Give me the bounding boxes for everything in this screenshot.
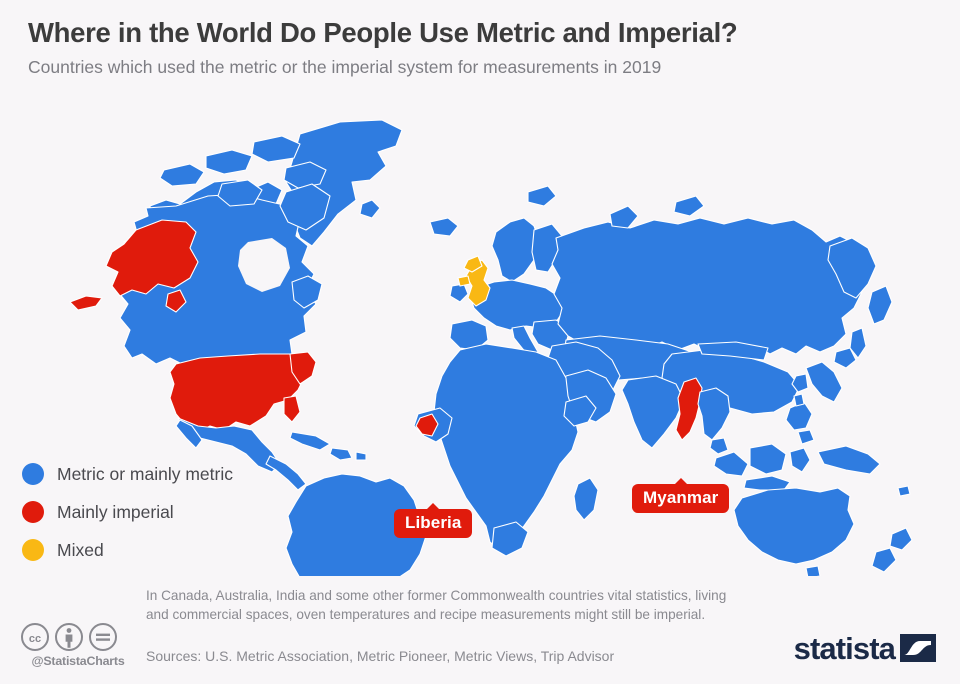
legend-item-metric: Metric or mainly metric	[22, 455, 233, 493]
cc-attribution-icon	[54, 622, 84, 652]
cc-no-derivatives-icon	[88, 622, 118, 652]
legend-item-imperial: Mainly imperial	[22, 493, 233, 531]
statista-wordmark: statista	[794, 633, 895, 664]
legend-dot-imperial-icon	[22, 501, 44, 523]
legend-label-metric: Metric or mainly metric	[57, 464, 233, 485]
region-russia	[552, 218, 862, 354]
statista-handle: @StatistaCharts	[20, 654, 136, 668]
footnote-text: In Canada, Australia, India and some oth…	[146, 586, 746, 625]
legend-item-mixed: Mixed	[22, 531, 233, 569]
statista-logo: statista	[794, 632, 936, 664]
svg-text:cc: cc	[29, 633, 41, 645]
region-taiwan	[794, 394, 804, 406]
region-pacific-islands	[898, 486, 910, 496]
region-tasmania	[806, 566, 820, 576]
sources-text: Sources: U.S. Metric Association, Metric…	[146, 648, 614, 664]
legend-dot-mixed-icon	[22, 539, 44, 561]
region-caribbean-pr	[356, 452, 366, 460]
callout-myanmar: Myanmar	[632, 484, 729, 513]
callout-liberia: Liberia	[394, 509, 472, 538]
callout-myanmar-label: Myanmar	[643, 488, 718, 507]
creative-commons-icons: cc	[20, 622, 136, 652]
creative-commons-block: cc @StatistaCharts	[20, 622, 136, 668]
header: Where in the World Do People Use Metric …	[28, 18, 938, 78]
infographic-root: Where in the World Do People Use Metric …	[0, 0, 960, 684]
page-subtitle: Countries which used the metric or the i…	[28, 57, 938, 78]
cc-icon: cc	[20, 622, 50, 652]
legend-label-mixed: Mixed	[57, 540, 104, 561]
legend: Metric or mainly metric Mainly imperial …	[22, 455, 233, 569]
statista-logo-mark-icon	[900, 632, 936, 664]
callout-liberia-label: Liberia	[405, 513, 461, 532]
page-title: Where in the World Do People Use Metric …	[28, 18, 938, 48]
legend-dot-metric-icon	[22, 463, 44, 485]
legend-label-imperial: Mainly imperial	[57, 502, 174, 523]
region-uk-ni	[458, 276, 470, 286]
